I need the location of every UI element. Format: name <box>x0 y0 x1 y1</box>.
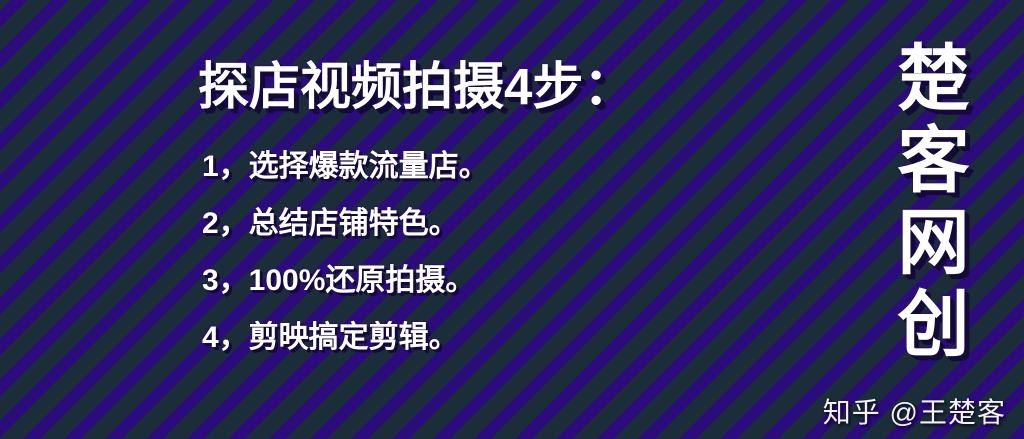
list-item: 3，100%还原拍摄。 <box>202 266 489 296</box>
poster-canvas: 探店视频拍摄4步： 1，选择爆款流量店。 2，总结店铺特色。 3，100%还原拍… <box>0 0 1024 439</box>
page-title: 探店视频拍摄4步： <box>198 58 634 117</box>
list-item: 1，选择爆款流量店。 <box>202 152 489 182</box>
list-item: 2，总结店铺特色。 <box>202 209 489 239</box>
watermark: 知乎 @王楚客 <box>823 391 1006 431</box>
brand-vertical-text: 楚客网创 <box>892 40 968 368</box>
steps-list: 1，选择爆款流量店。 2，总结店铺特色。 3，100%还原拍摄。 4，剪映搞定剪… <box>202 152 489 353</box>
list-item: 4，剪映搞定剪辑。 <box>202 323 489 353</box>
